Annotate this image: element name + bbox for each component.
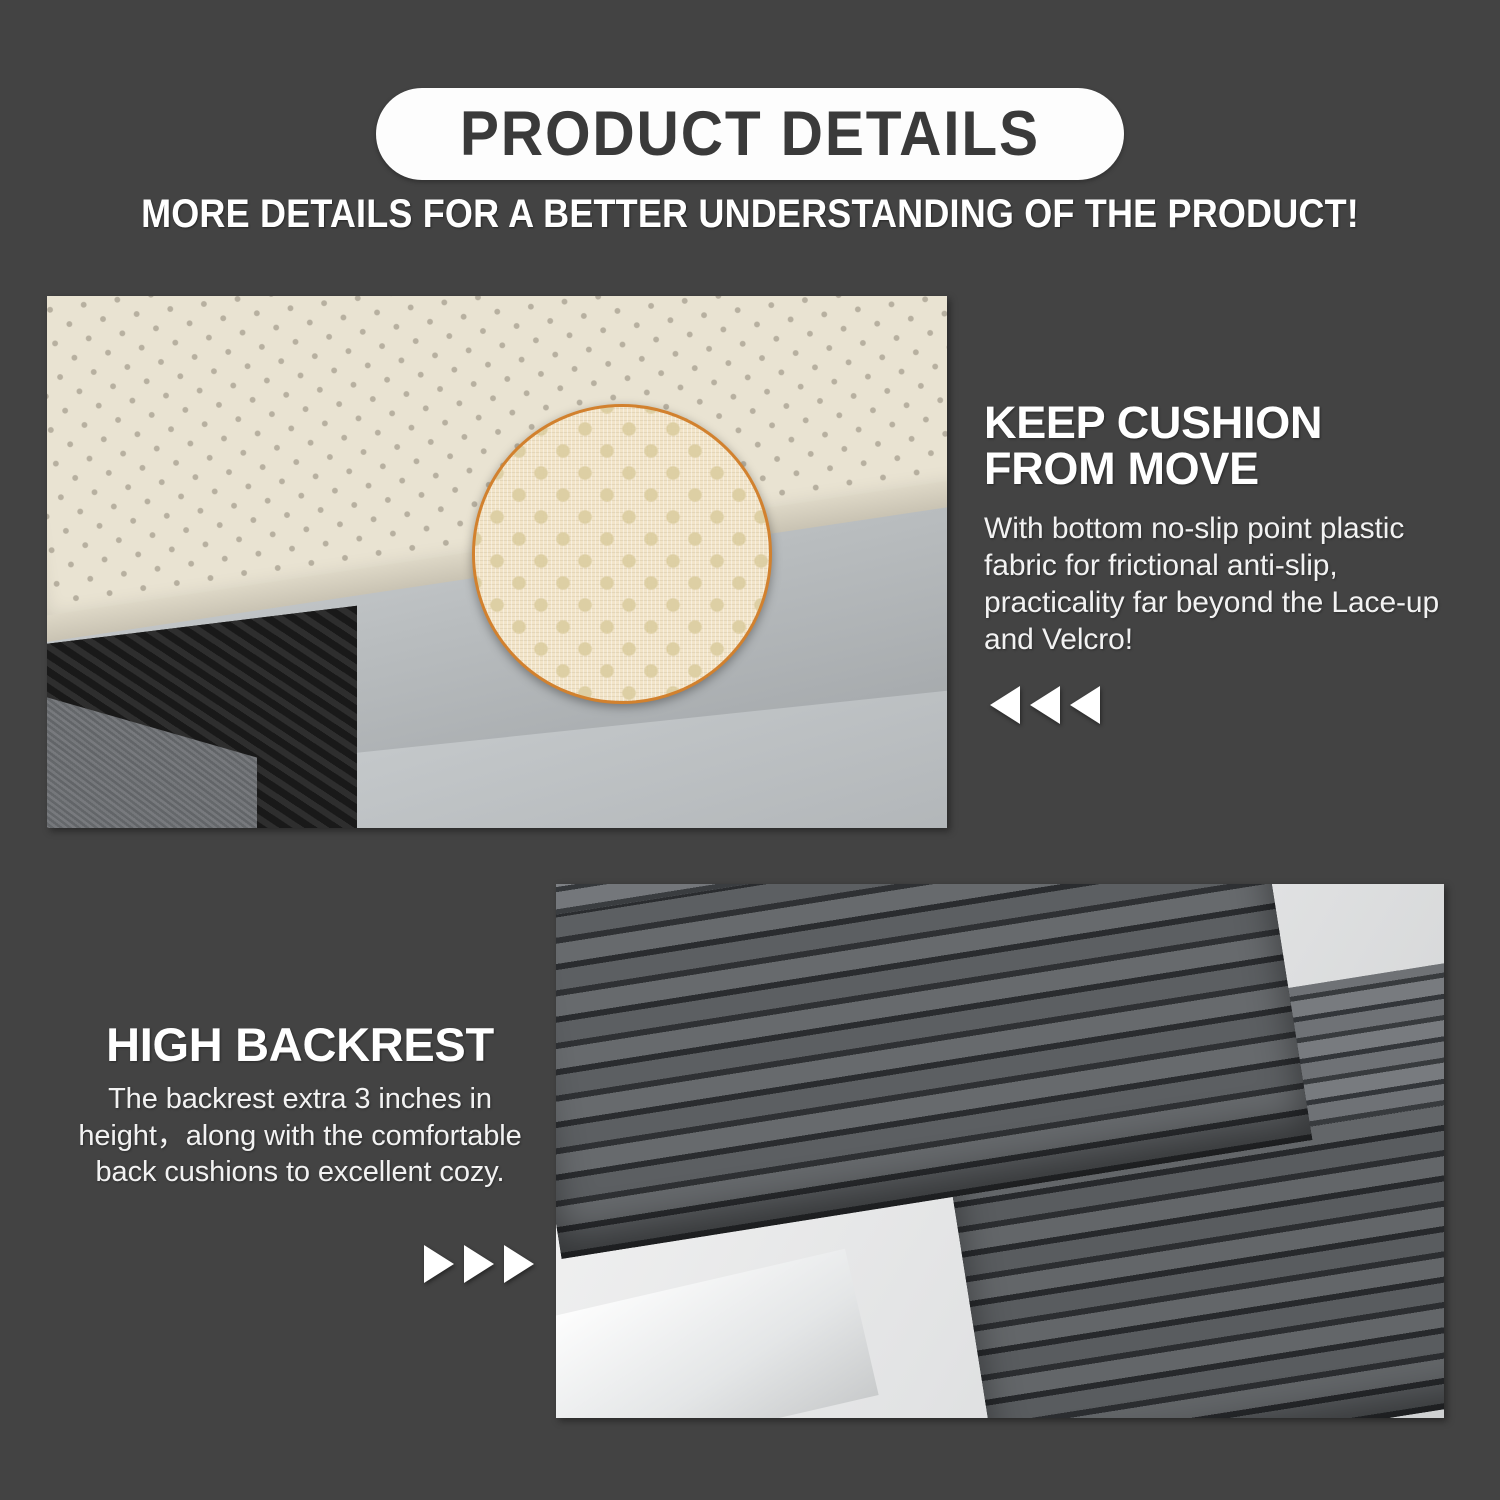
wicker-backrest-photo <box>556 884 1444 1418</box>
arrow-right-group <box>424 1245 534 1283</box>
page-title-pill: PRODUCT DETAILS <box>376 88 1124 180</box>
feature-heading: KEEP CUSHION FROM MOVE <box>984 400 1444 492</box>
page-title: PRODUCT DETAILS <box>460 103 1040 166</box>
feature-heading: HIGH BACKREST <box>70 1020 530 1069</box>
arrow-right-icon <box>424 1245 454 1283</box>
arrow-left-group <box>990 686 1100 724</box>
arrow-right-icon <box>464 1245 494 1283</box>
cushion-antislip-photo <box>47 296 947 828</box>
header: PRODUCT DETAILS MORE DETAILS FOR A BETTE… <box>0 0 1500 270</box>
feature-high-backrest: HIGH BACKREST The backrest extra 3 inche… <box>70 1020 530 1191</box>
feature-body: With bottom no-slip point plastic fabric… <box>984 510 1444 659</box>
arrow-left-icon <box>1030 686 1060 724</box>
feature-body: The backrest extra 3 inches in height，al… <box>70 1081 530 1191</box>
feature-keep-cushion-from-move: KEEP CUSHION FROM MOVE With bottom no-sl… <box>984 400 1444 659</box>
page-subtitle: MORE DETAILS FOR A BETTER UNDERSTANDING … <box>75 192 1425 237</box>
arrow-left-icon <box>990 686 1020 724</box>
arrow-right-icon <box>504 1245 534 1283</box>
magnifier-inset <box>472 404 772 704</box>
arrow-left-icon <box>1070 686 1100 724</box>
